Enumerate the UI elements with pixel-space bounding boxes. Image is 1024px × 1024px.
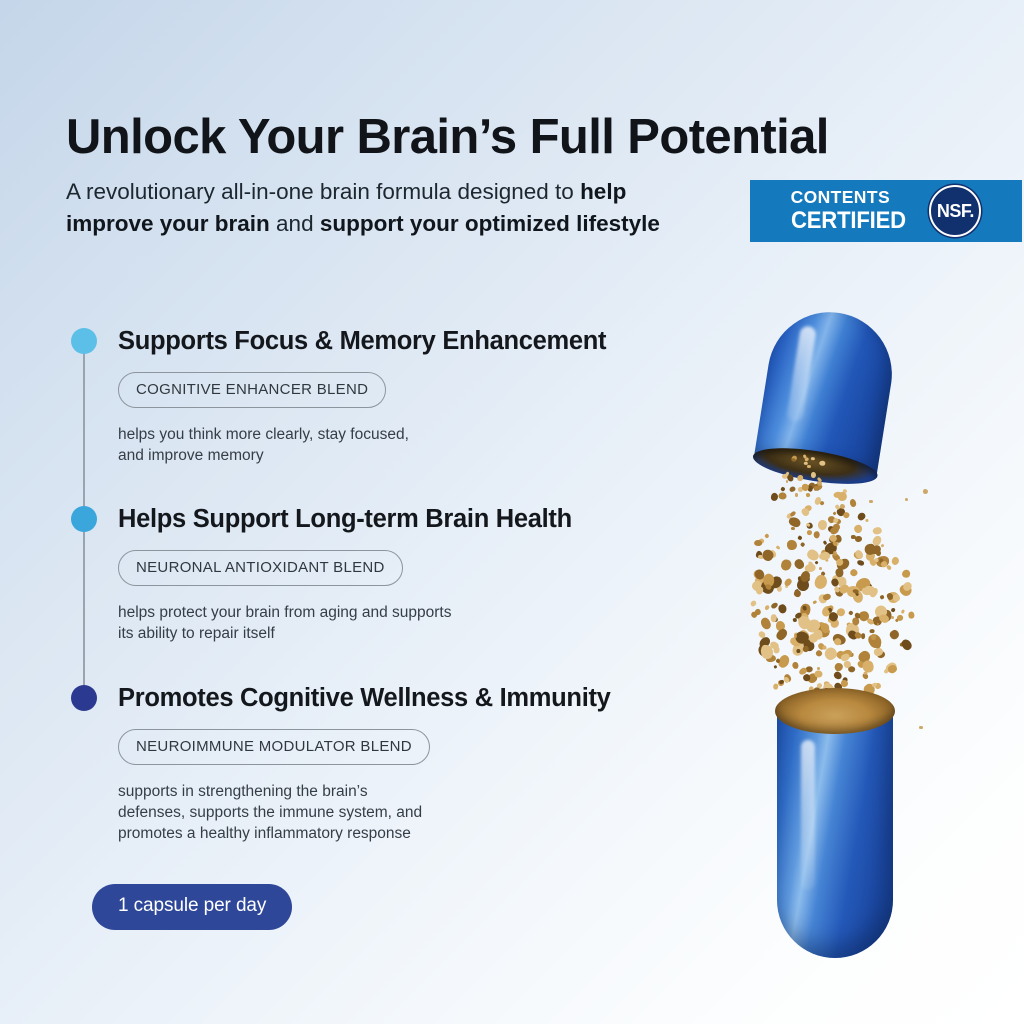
blend-badge: NEURONAL ANTIOXIDANT BLEND [118, 550, 403, 586]
bullet-icon [71, 328, 97, 354]
subtitle: A revolutionary all-in-one brain formula… [66, 176, 666, 240]
granule [813, 573, 829, 590]
granule [848, 568, 858, 578]
granule [908, 611, 915, 619]
granule [797, 535, 803, 540]
granule [787, 540, 797, 550]
granule [895, 618, 899, 622]
feature-item-wellness-immunity: Promotes Cognitive Wellness & Immunity N… [66, 683, 686, 844]
granule [872, 526, 882, 535]
granule [905, 498, 908, 501]
granule [832, 670, 842, 680]
granule [890, 556, 899, 566]
granule [879, 594, 885, 599]
granule [848, 610, 854, 615]
granule [919, 726, 923, 730]
granule [863, 660, 874, 672]
granule [780, 558, 792, 571]
granule [827, 630, 830, 633]
granule [856, 559, 864, 566]
granule [806, 492, 811, 497]
granule [871, 634, 877, 640]
granule [764, 533, 769, 538]
granule [801, 542, 806, 547]
granule [754, 540, 762, 547]
granule [778, 604, 789, 615]
granule [750, 611, 758, 619]
granule [811, 457, 815, 460]
granule [793, 557, 805, 570]
granule [850, 535, 855, 540]
granule [900, 637, 914, 651]
feature-description: supports in strengthening the brain’s de… [118, 781, 686, 844]
granule [819, 567, 822, 570]
capsule-bottom-half [777, 710, 893, 958]
granule [833, 551, 838, 556]
granule [773, 647, 779, 654]
granule [793, 618, 797, 623]
granule [869, 500, 873, 504]
blend-badge: NEUROIMMUNE MODULATOR BLEND [118, 729, 430, 765]
granule [901, 609, 905, 614]
granule [773, 665, 777, 669]
feature-list: Supports Focus & Memory Enhancement COGN… [66, 326, 686, 844]
nsf-logo-icon: NSF. [929, 185, 981, 237]
product-infographic: Unlock Your Brain’s Full Potential A rev… [0, 0, 1024, 1024]
granule [803, 462, 807, 465]
granule [795, 493, 799, 497]
granule [819, 461, 825, 466]
granule [834, 662, 843, 671]
granule [815, 560, 819, 564]
granule [901, 569, 910, 578]
feature-title: Promotes Cognitive Wellness & Immunity [118, 683, 686, 713]
granule [763, 604, 769, 611]
feature-title: Supports Focus & Memory Enhancement [118, 326, 686, 356]
granule [849, 498, 857, 507]
granule [817, 481, 822, 486]
feature-description: helps you think more clearly, stay focus… [118, 424, 686, 466]
granule [862, 584, 866, 588]
granule [771, 614, 777, 622]
granule [773, 683, 778, 689]
granule [923, 489, 928, 494]
granule [823, 592, 833, 601]
granule [865, 519, 869, 523]
granule [891, 607, 896, 612]
granule [807, 465, 811, 468]
granule [796, 648, 800, 653]
capsule-granule-fill [775, 688, 895, 734]
page-title: Unlock Your Brain’s Full Potential [66, 107, 966, 167]
granule [881, 544, 885, 548]
subtitle-bold-2: support your optimized lifestyle [320, 211, 660, 236]
nsf-badge-text: CONTENTS CERTIFIED [791, 189, 916, 233]
granule [852, 523, 863, 534]
granule [817, 519, 827, 530]
granule [842, 511, 850, 519]
capsule-illustration [735, 300, 1024, 980]
feature-description: helps protect your brain from aging and … [118, 602, 686, 644]
granule [891, 616, 894, 619]
bullet-icon [71, 685, 97, 711]
granule [819, 551, 831, 561]
granule [817, 667, 820, 670]
granule [888, 629, 900, 641]
granule [791, 662, 798, 670]
granule [780, 486, 785, 491]
granule [810, 472, 815, 478]
granule [778, 491, 787, 499]
blend-badge: COGNITIVE ENHANCER BLEND [118, 372, 386, 408]
dosage-badge: 1 capsule per day [92, 884, 292, 930]
capsule-gloss-highlight [801, 740, 815, 890]
granule [788, 485, 796, 492]
granule [776, 546, 781, 551]
subtitle-line-1: A revolutionary all-in-one brain formula… [66, 179, 574, 204]
granule [813, 531, 820, 539]
granule [812, 600, 817, 605]
feature-item-long-term-health: Helps Support Long-term Brain Health NEU… [66, 504, 686, 644]
granule [750, 600, 757, 607]
granule [790, 526, 794, 529]
subtitle-conjunction: and [270, 211, 320, 236]
granule [797, 475, 803, 482]
bullet-icon [71, 506, 97, 532]
granule [807, 530, 813, 535]
feature-item-focus-memory: Supports Focus & Memory Enhancement COGN… [66, 326, 686, 466]
nsf-contents-label: CONTENTS [791, 189, 890, 207]
granule [805, 548, 820, 563]
granule [814, 670, 823, 678]
feature-title: Helps Support Long-term Brain Health [118, 504, 686, 534]
nsf-certification-badge: CONTENTS CERTIFIED NSF. [750, 180, 1022, 242]
nsf-certified-label: CERTIFIED [791, 209, 906, 233]
granule [840, 504, 845, 509]
